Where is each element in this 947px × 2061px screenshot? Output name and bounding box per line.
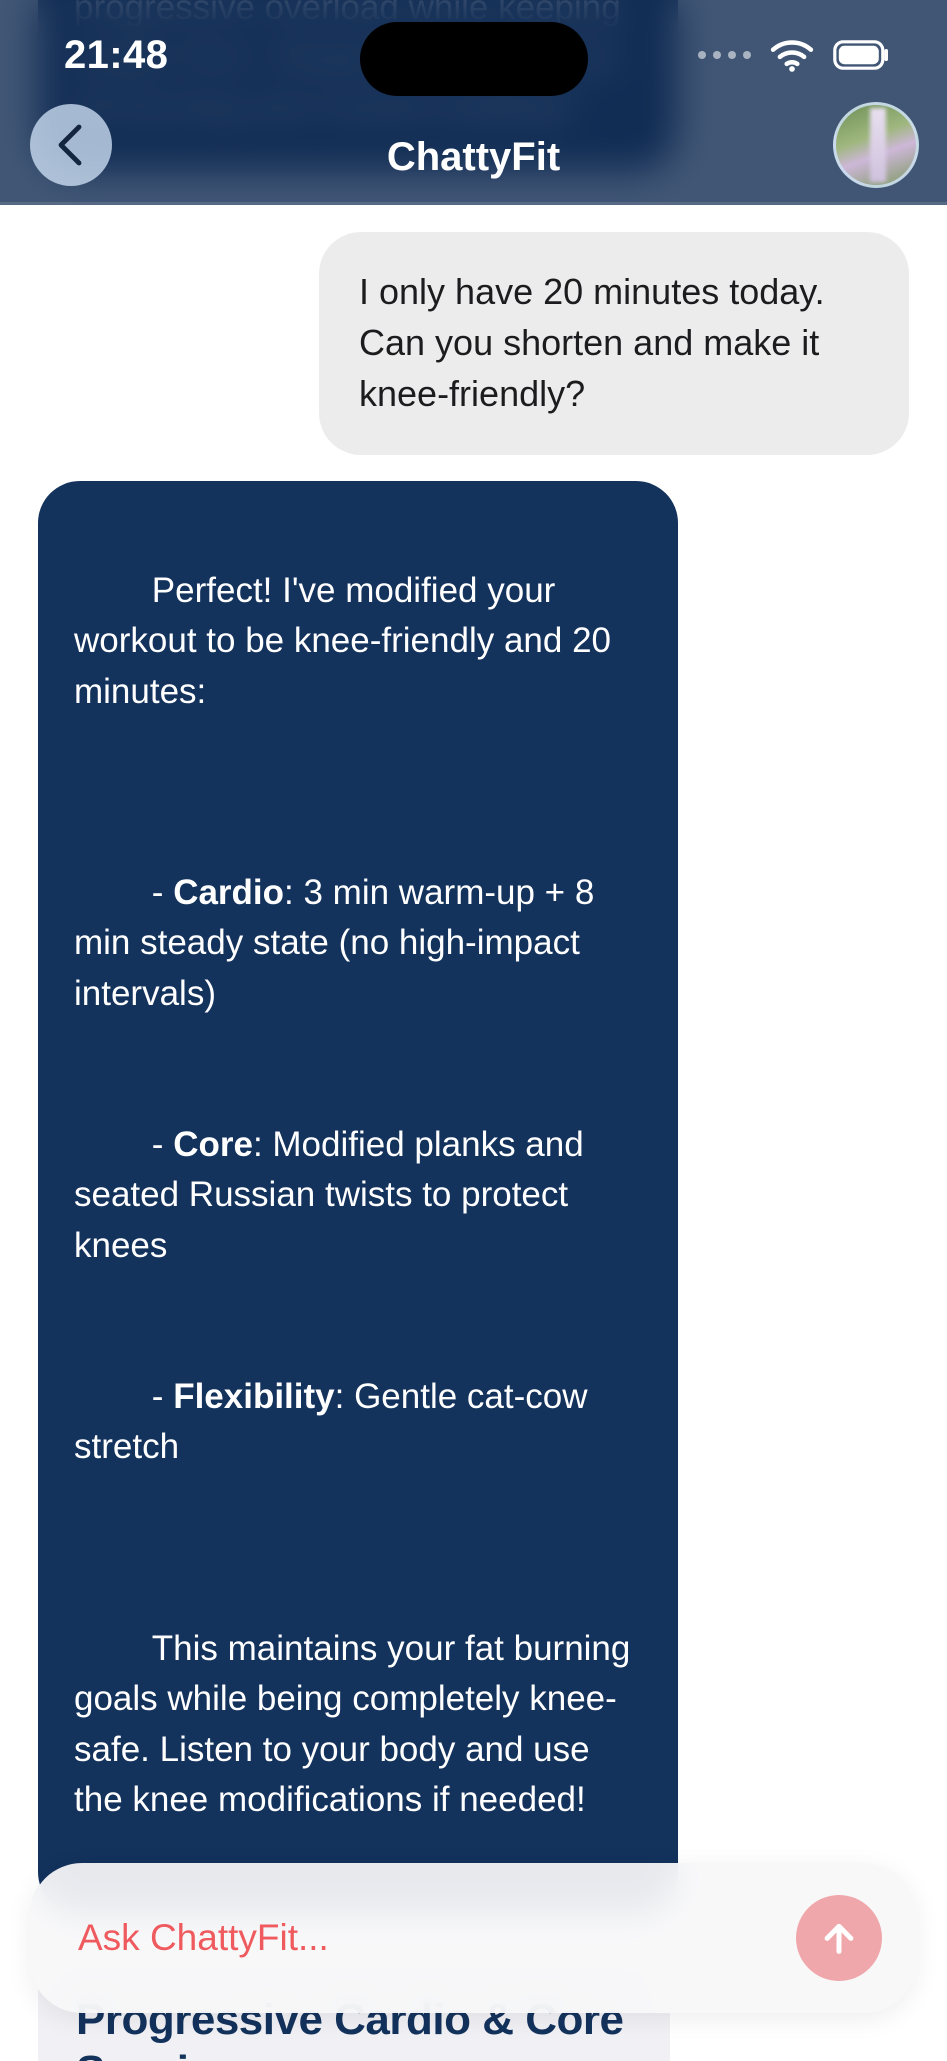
assistant-item-label-2: Core — [173, 1125, 253, 1164]
status-bar-indicators — [698, 38, 889, 72]
conversation-scroll[interactable]: The session maintains your 45-minute dur… — [0, 0, 947, 2061]
page-title: ChattyFit — [387, 135, 560, 180]
arrow-up-icon — [816, 1915, 862, 1961]
app-header: 21:48 — [0, 0, 947, 205]
send-button[interactable] — [796, 1895, 882, 1981]
status-bar-time: 21:48 — [64, 33, 168, 78]
user-message-text: I only have 20 minutes today. Can you sh… — [359, 271, 825, 414]
message-input-bar[interactable]: Ask ChattyFit... — [30, 1863, 916, 2013]
assistant-item-dash-2: - — [152, 1125, 173, 1164]
assistant-item-dash-3: - — [152, 1377, 173, 1416]
assistant-intro: Perfect! I've modified your workout to b… — [74, 571, 621, 711]
status-bar: 21:48 — [0, 0, 947, 110]
message-row-user: I only have 20 minutes today. Can you sh… — [0, 232, 947, 455]
message-input[interactable]: Ask ChattyFit... — [78, 1917, 796, 1959]
dynamic-island — [360, 22, 588, 96]
avatar[interactable] — [833, 102, 919, 188]
nav-bar: ChattyFit — [0, 110, 947, 205]
phone-screen: The session maintains your 45-minute dur… — [0, 0, 947, 2061]
avatar-image — [870, 108, 886, 182]
message-row-assistant: Perfect! I've modified your workout to b… — [0, 481, 947, 1914]
assistant-item-label-3: Flexibility — [173, 1377, 334, 1416]
back-button[interactable] — [30, 104, 112, 186]
assistant-item-dash-1: - — [152, 873, 173, 912]
assistant-item-label-1: Cardio — [173, 873, 284, 912]
assistant-outro: This maintains your fat burning goals wh… — [74, 1629, 640, 1819]
signal-dots-icon — [698, 51, 751, 59]
battery-icon — [833, 40, 889, 70]
chevron-left-icon — [53, 123, 89, 167]
user-message-bubble[interactable]: I only have 20 minutes today. Can you sh… — [319, 232, 909, 455]
wifi-icon — [769, 38, 815, 72]
assistant-message-bubble[interactable]: Perfect! I've modified your workout to b… — [38, 481, 678, 1914]
